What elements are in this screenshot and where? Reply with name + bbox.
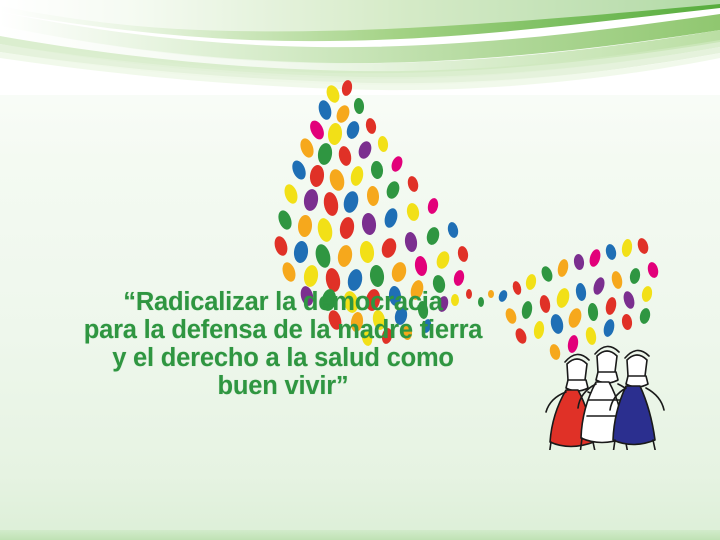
quote-line-4: buen vivir” — [48, 372, 518, 400]
figures-group — [544, 346, 664, 450]
bottom-edge-strip — [0, 530, 720, 540]
quote-line-2: para la defensa de la madre tierra — [48, 316, 518, 344]
quote-text-block: “Radicalizar la democracia para la defen… — [48, 288, 518, 400]
map-dots-trail — [497, 237, 660, 361]
slide-canvas: “Radicalizar la democracia para la defen… — [0, 0, 720, 540]
quote-line-3: y el derecho a la salud como — [48, 344, 518, 372]
quote-line-1: “Radicalizar la democracia — [48, 288, 518, 316]
